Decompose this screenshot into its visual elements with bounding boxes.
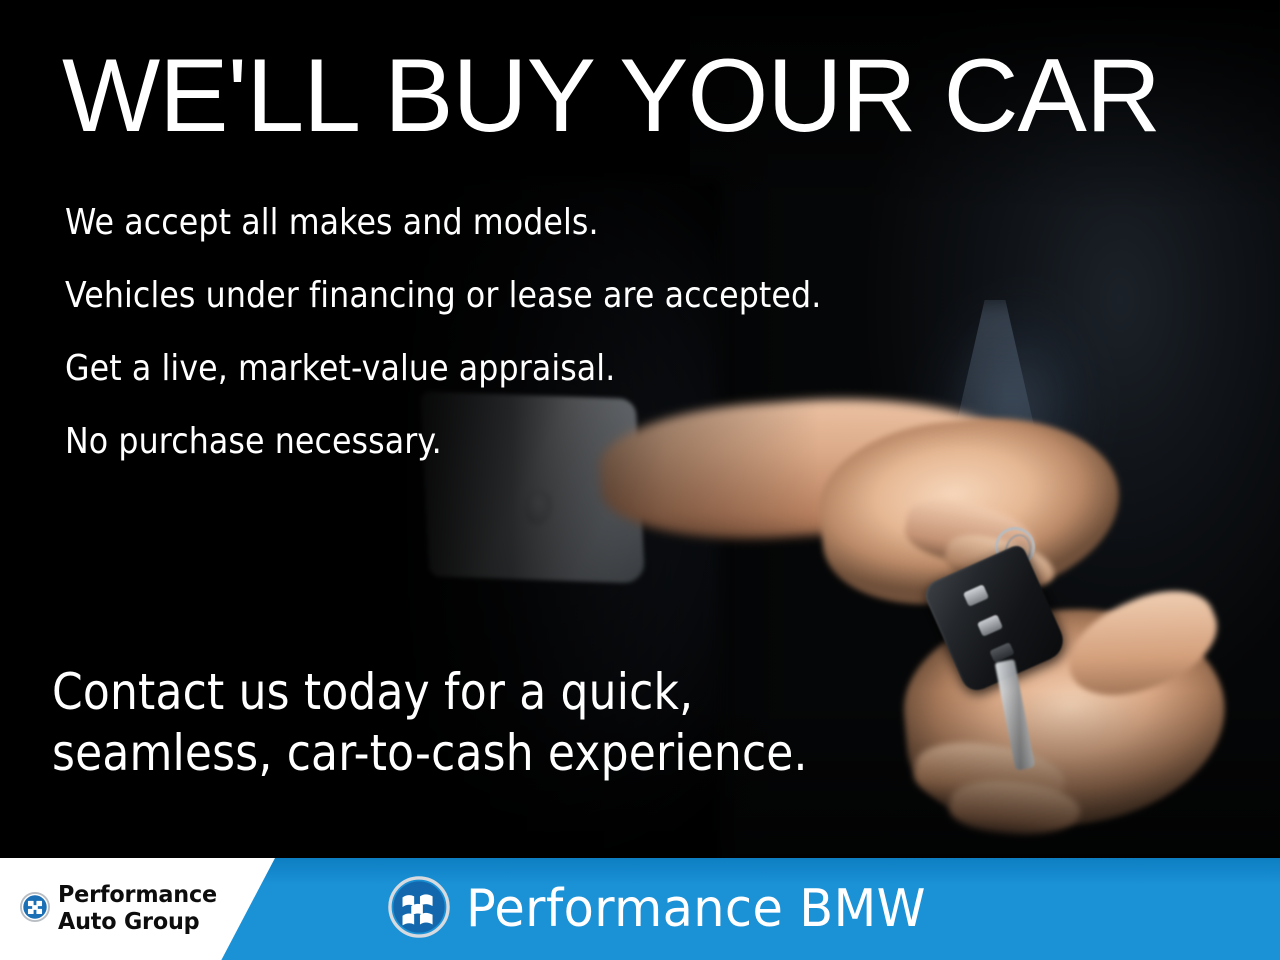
auto-group-logo-lockup: Performance Auto Group (20, 882, 222, 936)
footer-bar: Performance Auto Group (0, 858, 1280, 960)
cta-line: Contact us today for a quick, (52, 662, 844, 723)
checkered-flag-circle-icon (388, 876, 450, 943)
bullet-item: Vehicles under financing or lease are ac… (65, 259, 857, 332)
auto-group-name-line1: Performance (58, 882, 217, 909)
bullet-item: Get a live, market-value appraisal. (65, 332, 857, 405)
auto-group-panel: Performance Auto Group (0, 858, 275, 960)
bullet-item: No purchase necessary. (65, 405, 857, 478)
auto-group-name: Performance Auto Group (58, 882, 217, 936)
dealership-name: Performance BMW (466, 879, 926, 939)
headline: WE'LL BUY YOUR CAR (62, 44, 1160, 148)
auto-group-name-line2: Auto Group (58, 909, 217, 936)
dealership-lockup: Performance BMW (388, 858, 950, 960)
bullet-item: We accept all makes and models. (65, 186, 857, 259)
checkered-flag-circle-icon (20, 892, 50, 927)
bullet-list: We accept all makes and models. Vehicles… (65, 186, 965, 478)
advertisement-banner: WE'LL BUY YOUR CAR We accept all makes a… (0, 0, 1280, 960)
call-to-action: Contact us today for a quick, seamless, … (52, 662, 952, 784)
cta-line: seamless, car-to-cash experience. (52, 723, 844, 784)
